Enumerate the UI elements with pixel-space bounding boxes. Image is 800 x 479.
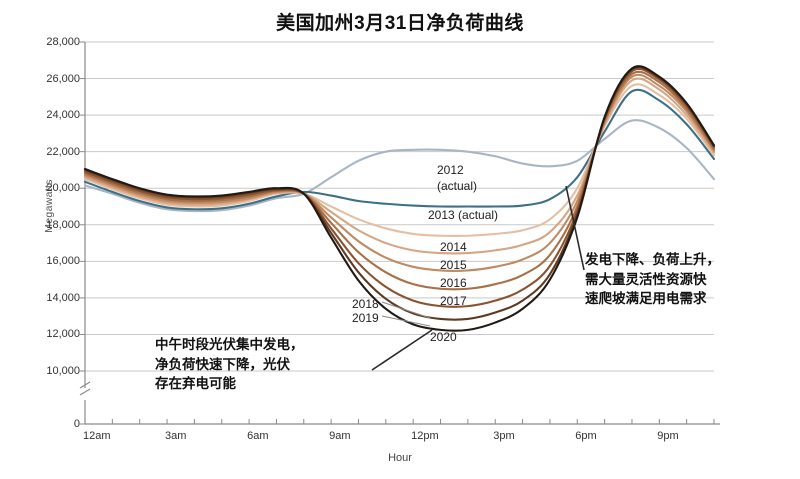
annotation-midday-solar: 中午时段光伏集中发电，净负荷快速下降，光伏存在弃电可能 — [155, 335, 365, 394]
series-label-2018: 2018 — [352, 297, 379, 311]
annotation-line: 中午时段光伏集中发电， — [155, 335, 365, 355]
annotation-line: 发电下降、负荷上升， — [585, 250, 785, 270]
series-label-2015: 2015 — [440, 258, 467, 272]
series-label-2016: 2016 — [440, 276, 467, 290]
annotation-line: 需大量灵活性资源快 — [585, 270, 785, 290]
leader-line-2019 — [382, 316, 430, 326]
series-label-2017: 2017 — [440, 294, 467, 308]
annotation-evening-ramp: 发电下降、负荷上升，需大量灵活性资源快速爬坡满足用电需求 — [585, 250, 785, 309]
series-label-2012-actual-sub: (actual) — [437, 179, 477, 193]
annotation-line: 存在弃电可能 — [155, 374, 365, 394]
axis-break-mark — [80, 389, 90, 395]
series-label-2013-actual-: 2013 (actual) — [428, 208, 498, 222]
net-load-chart: 美国加州3月31日净负荷曲线 Megawatts Hour 28,00026,0… — [0, 0, 800, 479]
annotation-line: 速爬坡满足用电需求 — [585, 289, 785, 309]
series-label-2019: 2019 — [352, 311, 379, 325]
annotation-line: 净负荷快速下降，光伏 — [155, 355, 365, 375]
series-label-2014: 2014 — [440, 240, 467, 254]
leader-line-midday-annotation — [372, 330, 432, 370]
series-label-2012: 2012 — [437, 163, 464, 177]
plot-area — [0, 0, 800, 479]
series-label-2020: 2020 — [430, 330, 457, 344]
